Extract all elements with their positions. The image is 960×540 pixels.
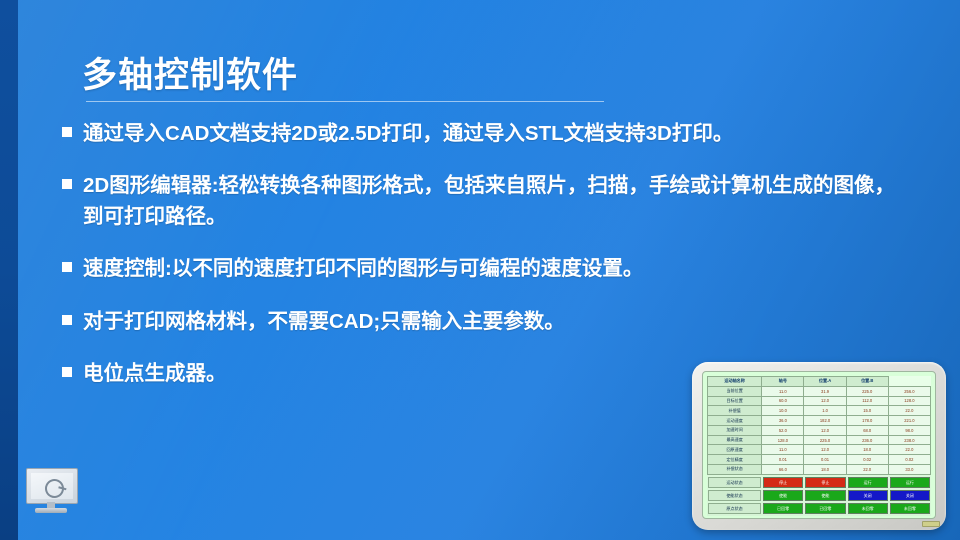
cell-value[interactable]: 225.0 xyxy=(846,386,888,396)
cell-value[interactable]: 22.0 xyxy=(846,465,888,475)
left-accent-bar xyxy=(0,0,18,540)
cell-value[interactable]: 238.0 xyxy=(888,435,930,445)
cell-value[interactable]: 0.02 xyxy=(846,455,888,465)
row-label: 定位精度 xyxy=(708,455,762,465)
cell-value[interactable]: 12.0 xyxy=(804,396,846,406)
status-row: 使能状态使能使能关闭关闭 xyxy=(707,488,931,501)
bullet-square-icon xyxy=(62,262,72,272)
row-label: 使能状态 xyxy=(708,490,761,501)
hmi-touch-panel: 运动轴名称轴号位置.A位置.B当前位置11.031.9225.0256.0目标位… xyxy=(692,362,946,530)
cell-value[interactable]: 0.01 xyxy=(804,455,846,465)
column-header: 位置.A xyxy=(804,377,846,387)
list-item-text: 通过导入CAD文档支持2D或2.5D打印，通过导入STL文档支持3D打印。 xyxy=(83,118,733,149)
status-badge[interactable]: 关闭 xyxy=(890,490,930,501)
table-row: 加速时间52.012.068.098.0 xyxy=(708,425,931,435)
column-header: 运动轴名称 xyxy=(708,377,762,387)
hmi-bezel: 运动轴名称轴号位置.A位置.B当前位置11.031.9225.0256.0目标位… xyxy=(702,371,936,519)
monitor-icon xyxy=(26,468,78,516)
cell-value[interactable]: 31.9 xyxy=(804,386,846,396)
cell-value[interactable]: 0.02 xyxy=(888,455,930,465)
row-label: 补偿状态 xyxy=(708,465,762,475)
hmi-screen: 运动轴名称轴号位置.A位置.B当前位置11.031.9225.0256.0目标位… xyxy=(707,376,931,516)
status-badge[interactable]: 使能 xyxy=(805,490,845,501)
cell-value[interactable]: 36.0 xyxy=(762,416,804,426)
row-label: 运动状态 xyxy=(708,477,761,488)
status-badge[interactable]: 运行 xyxy=(848,477,888,488)
cell-value[interactable]: 52.0 xyxy=(762,425,804,435)
cell-value[interactable]: 128.0 xyxy=(762,435,804,445)
status-badge[interactable]: 已回零 xyxy=(805,503,845,514)
row-label: 加速时间 xyxy=(708,425,762,435)
cell-value[interactable]: 60.0 xyxy=(762,396,804,406)
cell-value[interactable]: 18.0 xyxy=(846,445,888,455)
row-label: 运动速度 xyxy=(708,416,762,426)
parameter-table: 运动轴名称轴号位置.A位置.B当前位置11.031.9225.0256.0目标位… xyxy=(707,376,931,475)
table-row: 补偿值10.01.015.022.0 xyxy=(708,406,931,416)
cell-value[interactable]: 98.0 xyxy=(888,425,930,435)
page-title: 多轴控制软件 xyxy=(82,47,298,98)
status-badge[interactable]: 已回零 xyxy=(763,503,803,514)
status-badge[interactable]: 运行 xyxy=(890,477,930,488)
status-row: 运动状态停止停止运行运行 xyxy=(707,475,931,488)
table-row: 最高速度128.0225.0236.0238.0 xyxy=(708,435,931,445)
list-item-text: 电位点生成器。 xyxy=(83,358,227,389)
status-badge[interactable]: 停止 xyxy=(805,477,845,488)
row-label: 原点状态 xyxy=(708,503,761,514)
list-item-text: 对于打印网格材料，不需要CAD;只需输入主要参数。 xyxy=(83,306,565,337)
column-header: 位置.B xyxy=(846,377,888,387)
cell-value[interactable]: 33.0 xyxy=(888,465,930,475)
cell-value[interactable]: 66.0 xyxy=(762,465,804,475)
list-item: 对于打印网格材料，不需要CAD;只需输入主要参数。 xyxy=(62,306,898,337)
status-badge[interactable]: 未回零 xyxy=(890,503,930,514)
cell-value[interactable]: 12.0 xyxy=(804,445,846,455)
status-badge[interactable]: 未回零 xyxy=(848,503,888,514)
table-row: 补偿状态66.018.022.033.0 xyxy=(708,465,931,475)
bullet-square-icon xyxy=(62,367,72,377)
column-header: 轴号 xyxy=(762,377,804,387)
cell-value[interactable]: 236.0 xyxy=(846,435,888,445)
cell-value[interactable]: 11.0 xyxy=(762,386,804,396)
status-row: 原点状态已回零已回零未回零未回零 xyxy=(707,501,931,514)
slide-root: 多轴控制软件 通过导入CAD文档支持2D或2.5D打印，通过导入STL文档支持3… xyxy=(0,0,960,540)
cell-value[interactable]: 10.0 xyxy=(762,406,804,416)
list-item: 2D图形编辑器:轻松转换各种图形格式，包括来自照片，扫描，手绘或计算机生成的图像… xyxy=(62,170,898,232)
row-label: 补偿值 xyxy=(708,406,762,416)
magnifier-icon xyxy=(42,476,66,500)
bullet-square-icon xyxy=(62,179,72,189)
cell-value[interactable]: 0.01 xyxy=(762,455,804,465)
cell-value[interactable]: 22.0 xyxy=(888,445,930,455)
row-label: 最高速度 xyxy=(708,435,762,445)
status-badge[interactable]: 停止 xyxy=(763,477,803,488)
cell-value[interactable]: 182.0 xyxy=(804,416,846,426)
bullet-square-icon xyxy=(62,127,72,137)
list-item: 速度控制:以不同的速度打印不同的图形与可编程的速度设置。 xyxy=(62,253,898,284)
list-item: 通过导入CAD文档支持2D或2.5D打印，通过导入STL文档支持3D打印。 xyxy=(62,118,898,149)
row-label: 目标位置 xyxy=(708,396,762,406)
cell-value[interactable]: 256.0 xyxy=(888,386,930,396)
cell-value[interactable]: 11.0 xyxy=(762,445,804,455)
row-label: 回原速度 xyxy=(708,445,762,455)
status-badge[interactable]: 使能 xyxy=(763,490,803,501)
status-badge[interactable]: 关闭 xyxy=(848,490,888,501)
monitor-screen-inner xyxy=(31,473,73,499)
table-row: 当前位置11.031.9225.0256.0 xyxy=(708,386,931,396)
table-row: 运动速度36.0182.0178.0221.0 xyxy=(708,416,931,426)
status-button-area: 运动状态停止停止运行运行使能状态使能使能关闭关闭原点状态已回零已回零未回零未回零 xyxy=(707,475,931,514)
list-item-text: 速度控制:以不同的速度打印不同的图形与可编程的速度设置。 xyxy=(83,253,643,284)
cell-value[interactable]: 15.0 xyxy=(846,406,888,416)
table-row: 回原速度11.012.018.022.0 xyxy=(708,445,931,455)
monitor-screen xyxy=(26,468,78,504)
cell-value[interactable]: 22.0 xyxy=(888,406,930,416)
cell-value[interactable]: 128.0 xyxy=(888,396,930,406)
cell-value[interactable]: 68.0 xyxy=(846,425,888,435)
cell-value[interactable]: 12.0 xyxy=(804,425,846,435)
row-label: 当前位置 xyxy=(708,386,762,396)
cell-value[interactable]: 112.0 xyxy=(846,396,888,406)
list-item-text: 2D图形编辑器:轻松转换各种图形格式，包括来自照片，扫描，手绘或计算机生成的图像… xyxy=(83,170,898,232)
cell-value[interactable]: 1.0 xyxy=(804,406,846,416)
monitor-base xyxy=(35,508,67,513)
table-header-row: 运动轴名称轴号位置.A位置.B xyxy=(708,377,931,387)
cell-value[interactable]: 225.0 xyxy=(804,435,846,445)
title-divider xyxy=(86,101,604,102)
bullet-square-icon xyxy=(62,315,72,325)
cell-value[interactable]: 18.0 xyxy=(804,465,846,475)
cell-value[interactable]: 178.0 xyxy=(846,416,888,426)
table-row: 定位精度0.010.010.020.02 xyxy=(708,455,931,465)
table-row: 目标位置60.012.0112.0128.0 xyxy=(708,396,931,406)
cell-value[interactable]: 221.0 xyxy=(888,416,930,426)
home-button[interactable] xyxy=(922,521,940,527)
